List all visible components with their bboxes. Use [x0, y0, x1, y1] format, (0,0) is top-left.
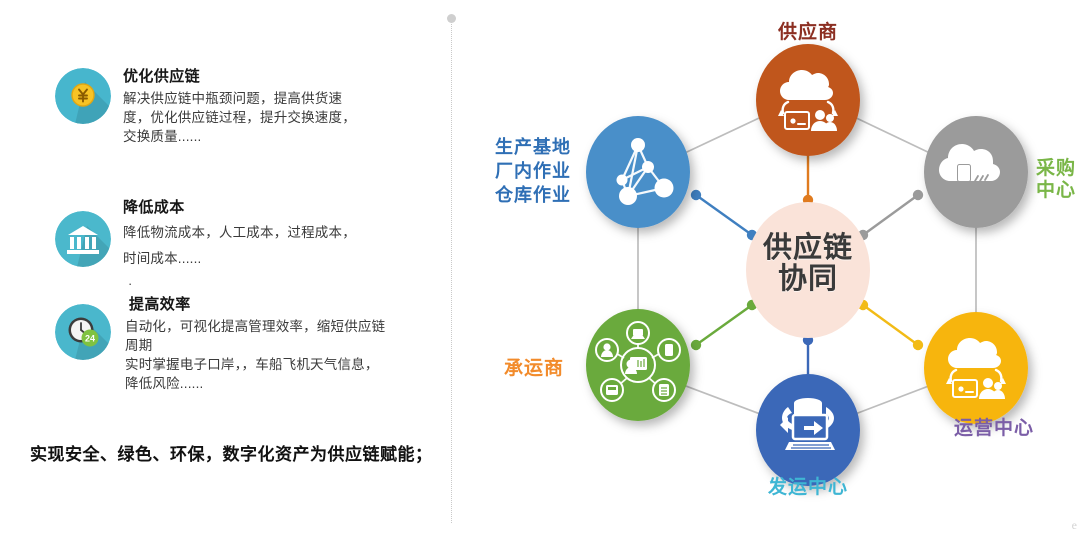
feature-title: 降低成本: [123, 199, 423, 218]
node-label-shipping-center: 发运中心: [752, 477, 864, 499]
node-label-operations-center: 运营中心: [954, 418, 1064, 440]
bank-building-icon: [55, 211, 111, 267]
hub-label-line2: 协同: [746, 264, 870, 295]
feature-text-block: 优化供应链 解决供应链中瓶颈问题，提高供货速 度，优化供应链过程，提升交换速度，…: [123, 68, 423, 146]
clock-24-icon: 24: [55, 304, 111, 360]
hub-label: 供应链 协同: [746, 233, 870, 294]
node-label-carrier: 承运商: [504, 358, 596, 380]
node-label-procurement-center: 采购 中心: [1036, 158, 1080, 203]
node-label-supplier: 供应商: [757, 22, 859, 44]
feature-title: 提高效率: [129, 296, 425, 315]
spoke-carrier: [691, 300, 757, 350]
feature-text-block: 提高效率 自动化，可视化提高管理效率，缩短供应链 周期 实时掌握电子口岸，，车船…: [125, 296, 425, 393]
stray-bullet: ·: [128, 276, 132, 291]
feature-description: 解决供应链中瓶颈问题，提高供货速 度，优化供应链过程，提升交换速度， 交换质量.…: [123, 89, 423, 146]
feature-title: 优化供应链: [123, 68, 423, 87]
spoke-operations-center: [858, 300, 923, 350]
feature-description: 自动化，可视化提高管理效率，缩短供应链 周期 实时掌握电子口岸，，车船飞机天气信…: [125, 317, 425, 394]
node-label-production-base: 生产基地 厂内作业 仓库作业: [495, 136, 591, 207]
svg-text:24: 24: [85, 333, 95, 343]
yen-coin-icon: [55, 68, 111, 124]
corner-mark: e: [1072, 518, 1077, 533]
supply-chain-collaboration-diagram: 供应链 协同 供应商 采购 中心 运营中心 发运中心 承运商 生产基地 厂内作业…: [452, 0, 1080, 537]
feature-text-block: 降低成本 降低物流成本，人工成本，过程成本， 时间成本......: [123, 199, 423, 272]
feature-description: 降低物流成本，人工成本，过程成本， 时间成本......: [123, 220, 423, 273]
headline-text: 实现安全、绿色、环保，数字化资产为供应链赋能；: [30, 440, 433, 465]
hub-label-line1: 供应链: [746, 233, 870, 264]
slide-canvas: 优化供应链 解决供应链中瓶颈问题，提高供货速 度，优化供应链过程，提升交换速度，…: [0, 0, 1080, 537]
